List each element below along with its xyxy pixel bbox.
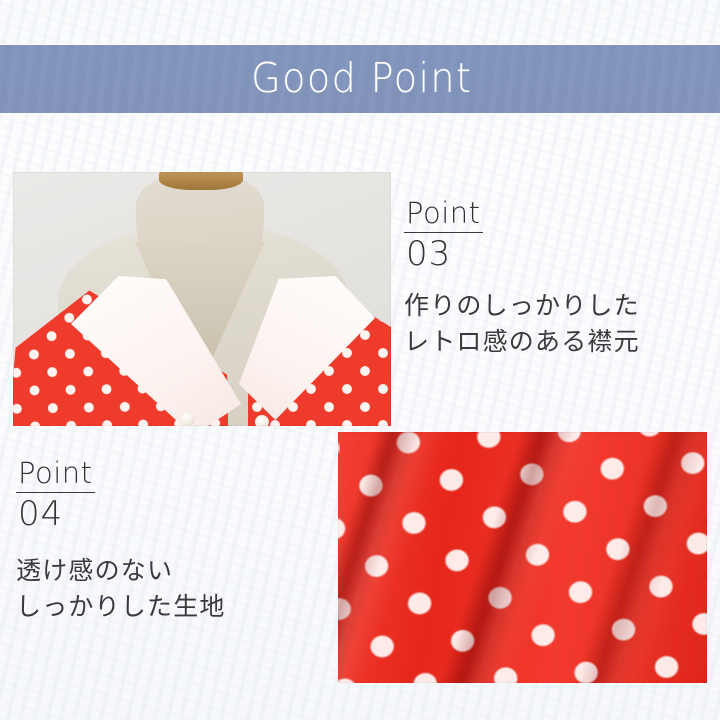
point-04-block: Point 04 透け感のない しっかりした生地 (16, 459, 326, 624)
collar-detail-photo (13, 172, 391, 426)
point-04-label-word: Point (16, 459, 95, 493)
point-03-description: 作りのしっかりした レトロ感のある襟元 (404, 288, 704, 359)
header-band: Good Point (0, 45, 720, 113)
polka-dot-pattern (338, 432, 707, 683)
fabric-detail-photo (338, 432, 707, 683)
point-04-label-number: 04 (16, 497, 326, 531)
pearl-button (181, 412, 195, 426)
point-03-label: Point 03 (404, 199, 704, 271)
point-04-description: 透け感のない しっかりした生地 (16, 553, 326, 624)
point-04-label: Point 04 (16, 459, 326, 531)
mannequin-top-knob (159, 172, 243, 190)
point-03-block: Point 03 作りのしっかりした レトロ感のある襟元 (404, 199, 704, 359)
point-03-label-word: Point (404, 199, 483, 233)
point-03-label-number: 03 (404, 237, 704, 271)
pearl-button (255, 415, 269, 426)
page-title: Good Point (248, 58, 473, 101)
good-point-page: Good Point Point 03 作りのしっかりした レトロ感のある襟元 … (0, 0, 720, 720)
